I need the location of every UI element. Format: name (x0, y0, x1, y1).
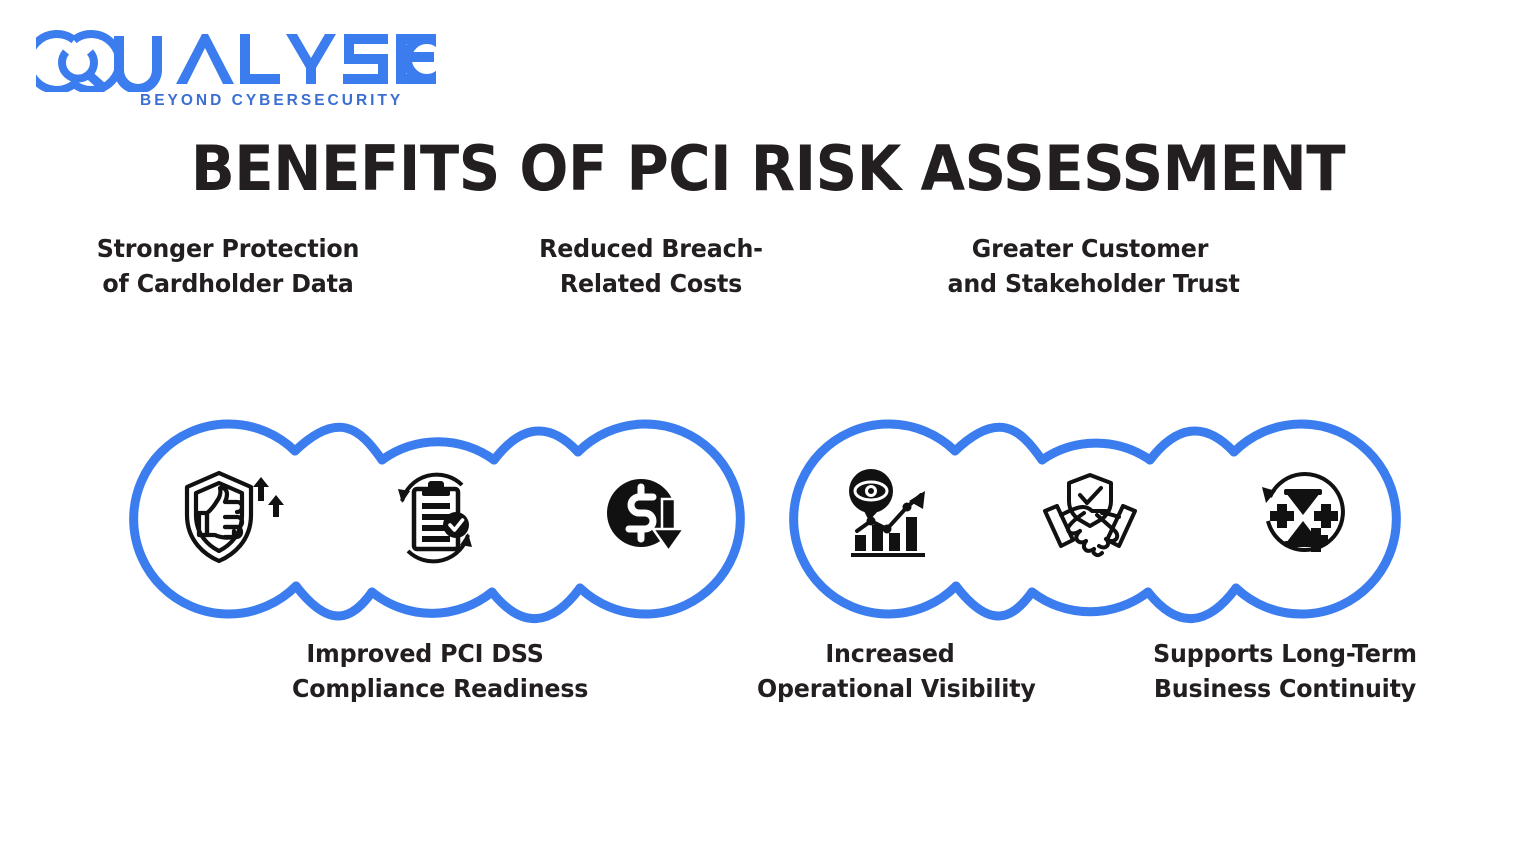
infographic-canvas: BEYOND CYBERSECURITY BENEFITS OF PCI RIS… (0, 0, 1536, 864)
step-label-1: Stronger Protection of Cardholder Data (95, 232, 361, 301)
brand-logo: BEYOND CYBERSECURITY (36, 22, 436, 118)
step-label-3: Reduced Breach- Related Costs (522, 232, 780, 301)
step-label-6: Supports Long-Term Business Continuity (1147, 637, 1423, 706)
icon-slot-1 (168, 458, 288, 578)
step-label-5: Greater Customer and Stakeholder Trust (948, 232, 1233, 301)
handshake-shield-check-icon (1031, 459, 1149, 577)
eye-bar-chart-growth-icon (829, 459, 947, 577)
icon-slot-4 (828, 458, 948, 578)
step-label-2: Improved PCI DSS Compliance Readiness (292, 637, 558, 706)
icon-slot-3 (590, 458, 710, 578)
hourglass-plus-refresh-icon (1244, 459, 1362, 577)
brand-tagline: BEYOND CYBERSECURITY (140, 92, 403, 110)
dollar-coin-down-arrow-icon (591, 459, 709, 577)
step-label-4: Increased Operational Visibility (757, 637, 1023, 706)
page-title: BENEFITS OF PCI RISK ASSESSMENT (54, 136, 1482, 201)
benefits-flow: Stronger Protection of Cardholder Data I… (0, 300, 1536, 720)
icon-slot-6 (1243, 458, 1363, 578)
qualysec-wordmark-icon (36, 22, 436, 92)
shield-thumbs-up-icon (169, 459, 287, 577)
icon-slot-2 (375, 458, 495, 578)
icon-slot-5 (1030, 458, 1150, 578)
clipboard-check-refresh-icon (376, 459, 494, 577)
